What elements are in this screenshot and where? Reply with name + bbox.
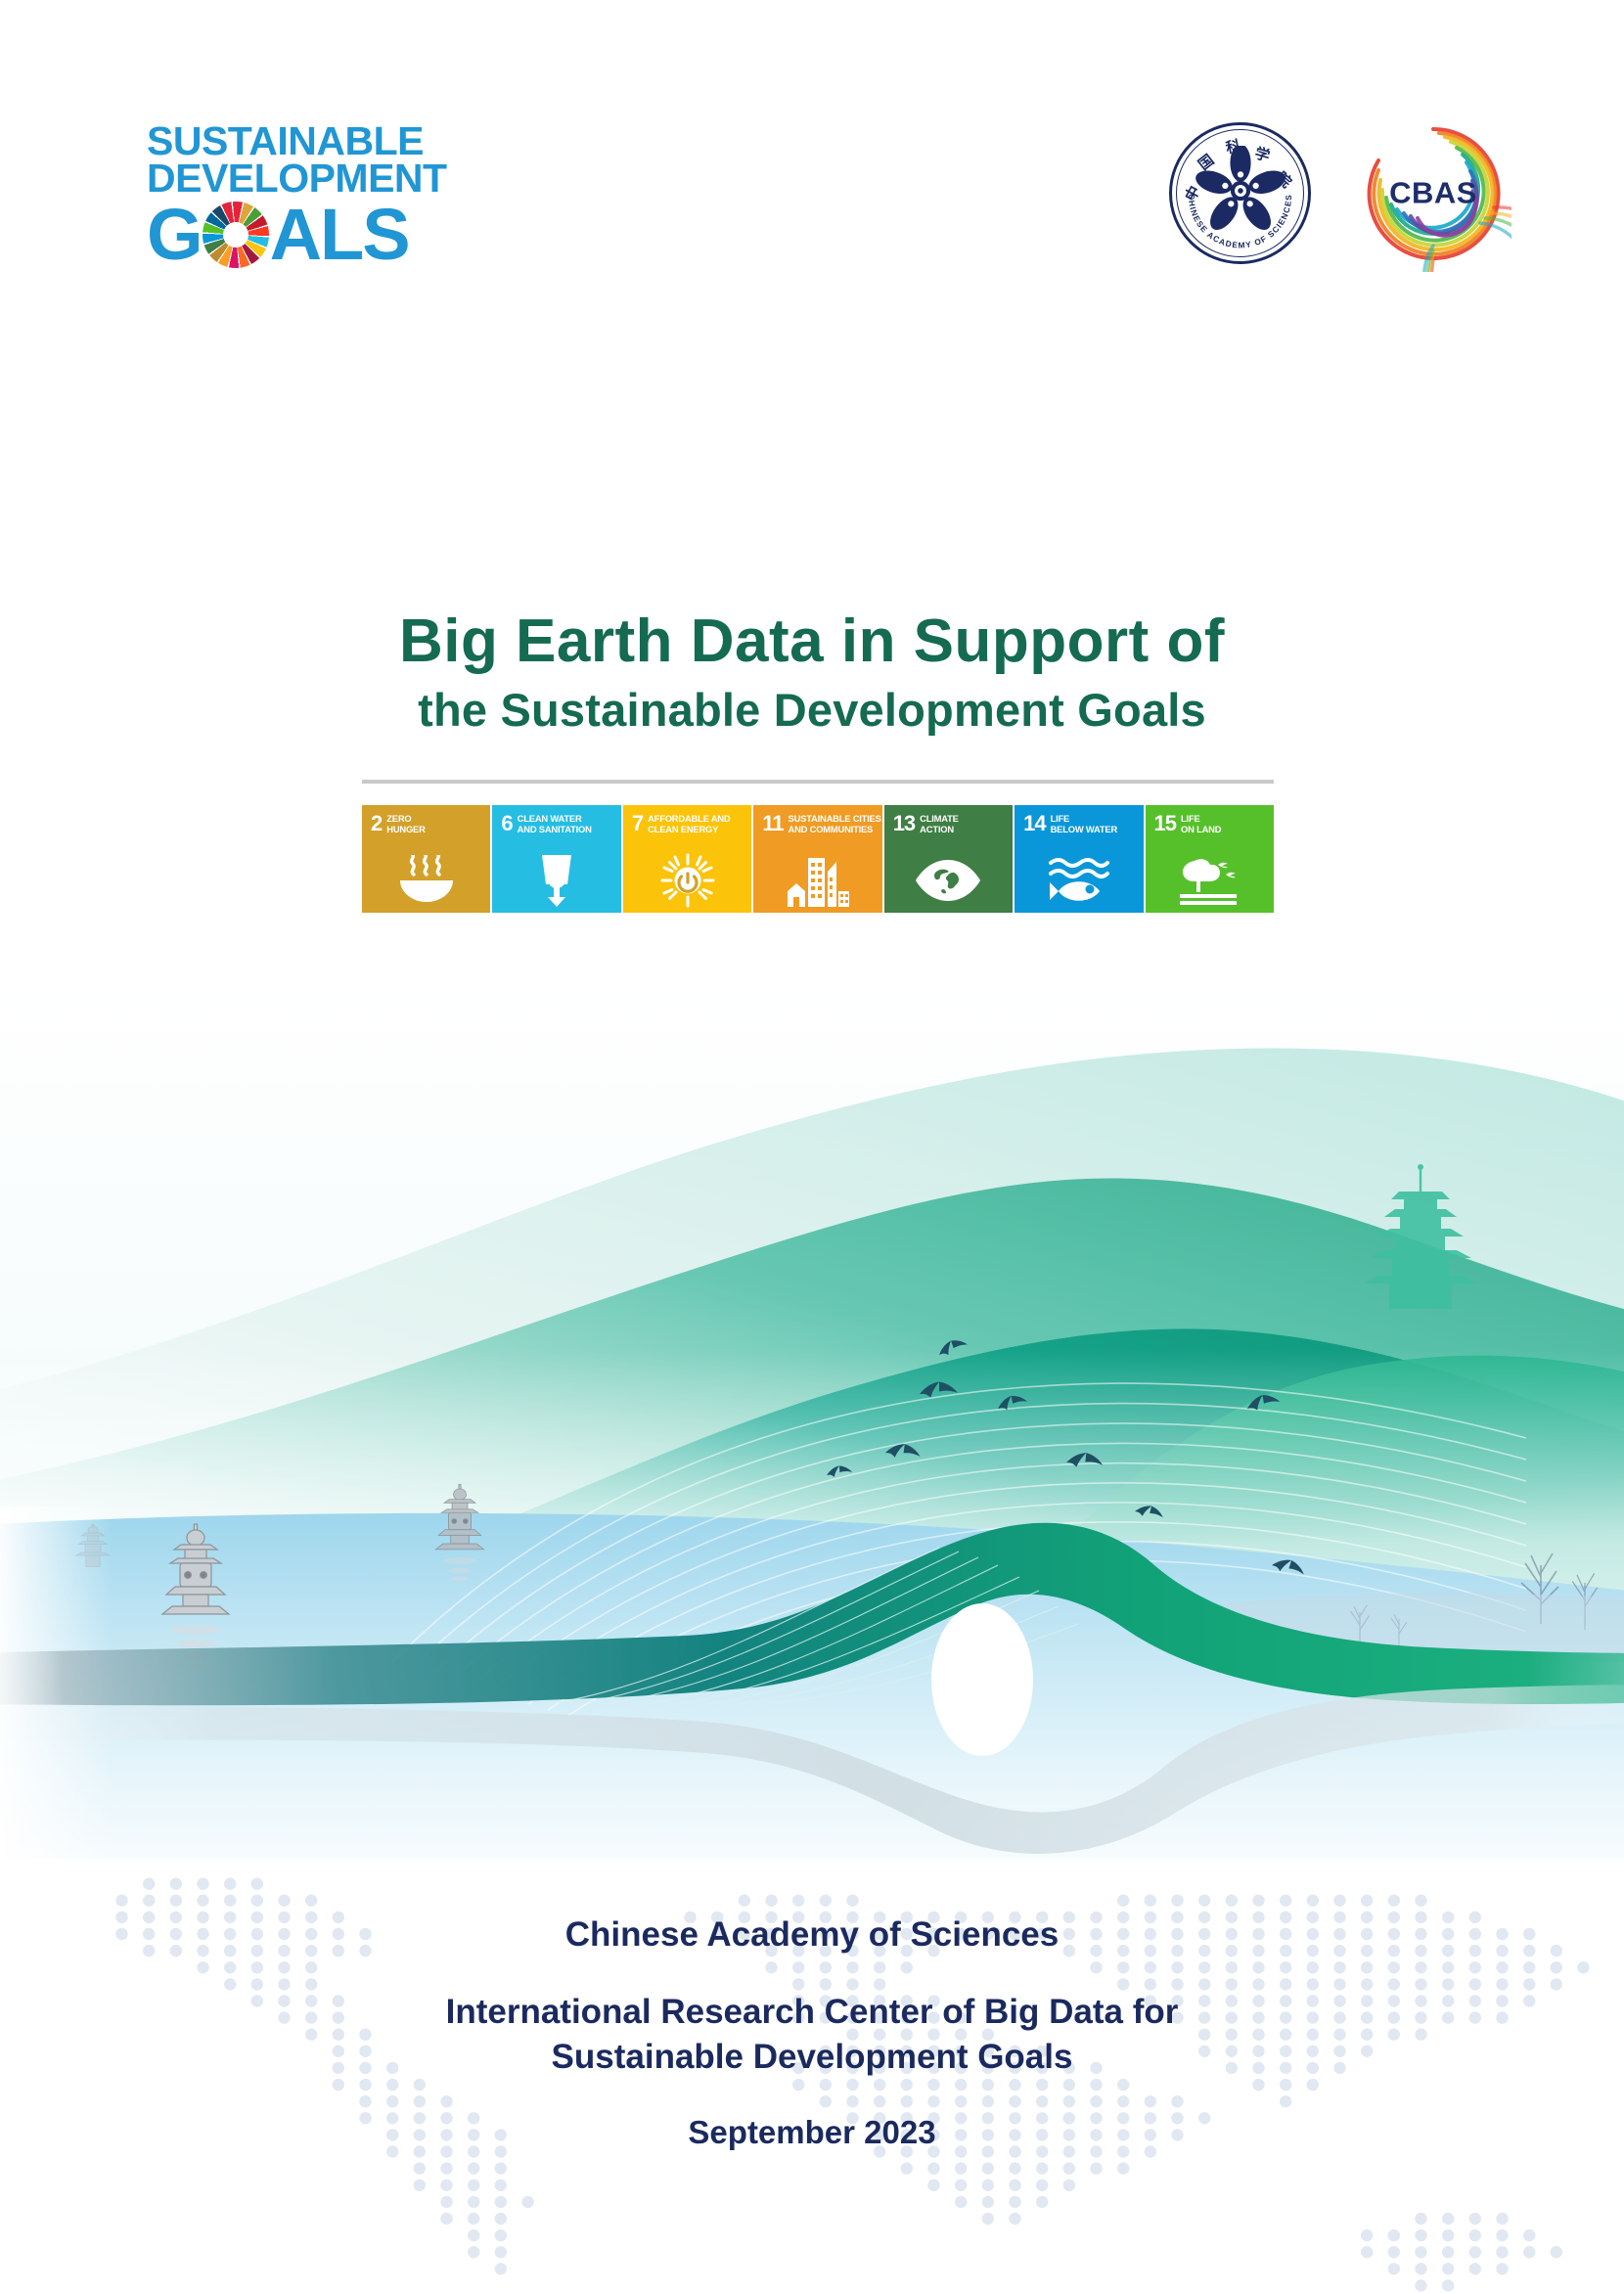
sdg-tile-label: ZERO HUNGER <box>386 814 425 834</box>
cover-footer-block: Chinese Academy of Sciences Internationa… <box>0 1912 1624 2154</box>
sdg-tile-header: 14LIFE BELOW WATER <box>1023 814 1143 834</box>
page-title-line1: Big Earth Data in Support of <box>0 607 1624 676</box>
sdg-tile-header: 6CLEAN WATER AND SANITATION <box>501 814 620 834</box>
footer-organization: Chinese Academy of Sciences <box>0 1912 1624 1957</box>
city-buildings-icon <box>753 852 881 909</box>
cas-chinese-characters: 中 国 科 学 院 <box>1169 122 1311 264</box>
sdg-tile-header: 2ZERO HUNGER <box>371 814 490 834</box>
footer-date: September 2023 <box>0 2112 1624 2154</box>
water-glass-icon <box>492 852 620 909</box>
sdg-tile-7[interactable]: 7AFFORDABLE AND CLEAN ENERGY <box>623 805 751 913</box>
sustainable-development-goals-logo: SUSTAINABLE DEVELOPMENT G ALS <box>147 122 450 274</box>
sdg-tile-header: 15LIFE ON LAND <box>1154 814 1274 834</box>
chinese-academy-of-sciences-seal-logo: CHINESE ACADEMY OF SCIENCES 中 国 科 学 院 <box>1169 122 1311 264</box>
title-divider-rule <box>362 780 1274 784</box>
sdg-color-wheel-icon <box>203 202 269 268</box>
sdg-tile-13[interactable]: 13CLIMATE ACTION <box>884 805 1013 913</box>
sdg-tile-label: CLEAN WATER AND SANITATION <box>518 814 592 834</box>
eye-globe-icon <box>884 852 1013 909</box>
sdg-tile-label: LIFE ON LAND <box>1181 814 1221 834</box>
sdg-tile-label: CLIMATE ACTION <box>920 814 959 834</box>
sdg-logo-als-letters: ALS <box>270 199 409 271</box>
sdg-tile-11[interactable]: 11SUSTAINABLE CITIES AND COMMUNITIES <box>753 805 881 913</box>
sdg-logo-line2: DEVELOPMENT <box>147 159 447 198</box>
sdg-tile-header: 13CLIMATE ACTION <box>893 814 1013 834</box>
sdg-tile-14[interactable]: 14LIFE BELOW WATER <box>1015 805 1143 913</box>
sdg-tile-number: 6 <box>501 814 512 832</box>
page-title-line2: the Sustainable Development Goals <box>0 680 1624 740</box>
bowl-of-soup-icon <box>362 852 490 909</box>
page-header: SUSTAINABLE DEVELOPMENT G ALS <box>0 0 1624 293</box>
sdg-logo-g-letter: G <box>147 199 202 271</box>
sdg-tile-2[interactable]: 2ZERO HUNGER <box>362 805 490 913</box>
sdg-goal-tiles: 2ZERO HUNGER 6CLEAN WATER AND SANITATION… <box>362 805 1274 913</box>
sdg-tile-6[interactable]: 6CLEAN WATER AND SANITATION <box>492 805 620 913</box>
sdg-tile-number: 11 <box>762 814 783 832</box>
sdg-tile-label: AFFORDABLE AND CLEAN ENERGY <box>648 814 730 834</box>
landscape-illustration <box>0 978 1624 1859</box>
sdg-tile-number: 14 <box>1023 814 1045 832</box>
cover-title-block: Big Earth Data in Support of the Sustain… <box>0 607 1624 740</box>
focal-white-ellipse <box>931 1603 1033 1756</box>
sdg-tile-label: LIFE BELOW WATER <box>1051 814 1117 834</box>
footer-center-name: International Research Center of Big Dat… <box>0 1990 1624 2080</box>
sdg-tile-header: 11SUSTAINABLE CITIES AND COMMUNITIES <box>762 814 881 834</box>
sdg-tile-header: 7AFFORDABLE AND CLEAN ENERGY <box>632 814 751 834</box>
tree-birds-icon <box>1146 852 1274 909</box>
sdg-tile-number: 7 <box>632 814 643 832</box>
sdg-tile-number: 15 <box>1154 814 1176 832</box>
cbas-logo: CBAS <box>1355 115 1511 272</box>
sdg-logo-goals-row: G ALS <box>147 199 409 271</box>
sdg-tile-number: 13 <box>893 814 915 832</box>
cbas-wordmark: CBAS <box>1355 175 1511 210</box>
sdg-tile-15[interactable]: 15LIFE ON LAND <box>1146 805 1274 913</box>
sdg-tile-number: 2 <box>371 814 382 832</box>
fish-waves-icon <box>1015 852 1143 909</box>
sun-power-icon <box>623 852 751 909</box>
sdg-tile-label: SUSTAINABLE CITIES AND COMMUNITIES <box>789 814 881 834</box>
